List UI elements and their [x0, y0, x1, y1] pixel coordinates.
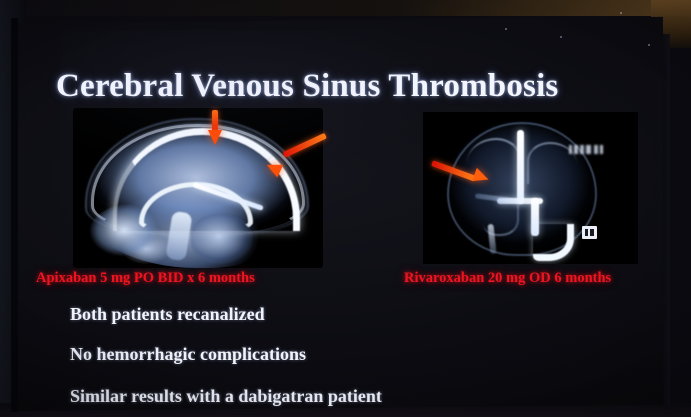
screen-bezel-left — [11, 18, 18, 412]
room-wall-top — [0, 0, 691, 16]
slide-title: Cerebral Venous Sinus Thrombosis — [56, 68, 656, 105]
sagittal-mri-image — [73, 108, 323, 268]
bullet-line-3: Similar results with a dabigatran patien… — [70, 386, 382, 407]
bullet-line-1: Both patients recanalized — [70, 304, 265, 325]
caption-right-treatment: Rivaroxaban 20 mg OD 6 months — [404, 270, 611, 287]
dust-speck — [648, 44, 650, 46]
scanner-annotation-text — [569, 145, 603, 154]
caption-left-treatment: Apixaban 5 mg PO BID x 6 months — [36, 270, 255, 287]
dust-speck — [505, 28, 507, 30]
projected-slide-photo: Cerebral Venous Sinus Thrombosis — [0, 0, 691, 417]
right-sigmoid-sinus — [533, 224, 574, 261]
scanner-orientation-marker — [582, 226, 597, 239]
dust-speck — [620, 12, 622, 14]
superior-sagittal-sinus — [517, 130, 524, 204]
dust-speck — [560, 36, 562, 38]
arrow-left-transverse-icon — [432, 156, 496, 192]
arrow-parietal-icon — [266, 140, 328, 180]
arrow-vertex-icon — [207, 110, 223, 147]
bullet-line-2: No hemorrhagic complications — [70, 344, 306, 365]
slide-surface: Cerebral Venous Sinus Thrombosis — [18, 17, 663, 411]
